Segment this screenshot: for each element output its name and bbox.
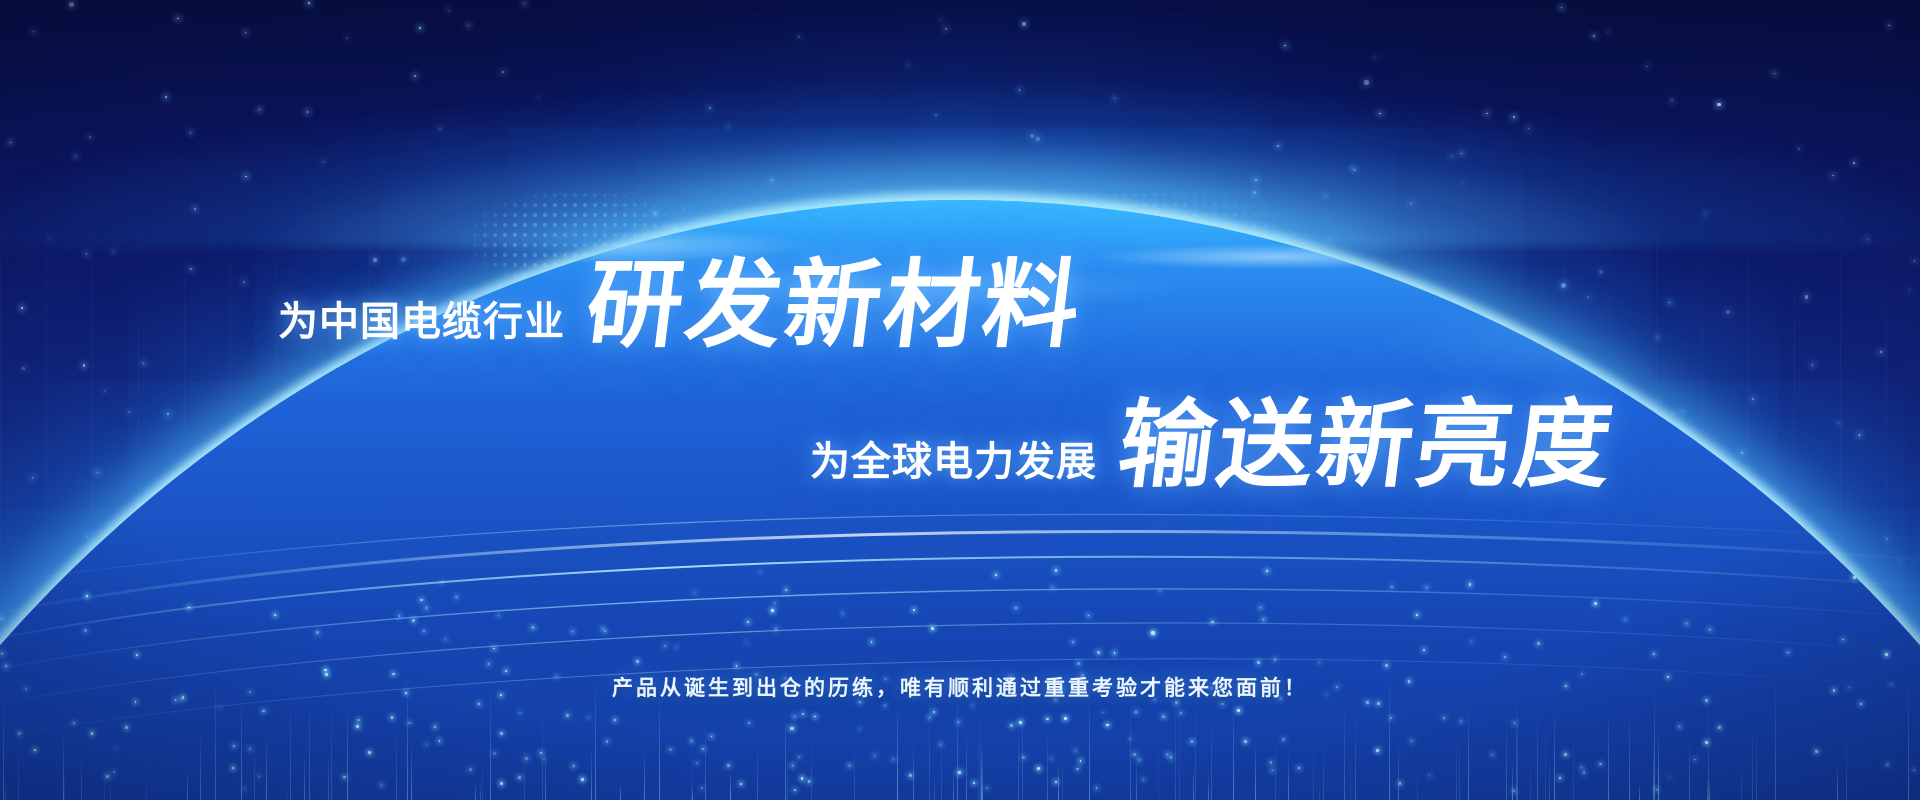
earth-horizon-glow — [0, 28, 1920, 248]
hero-banner: 为中国电缆行业 研发新材料 为全球电力发展 输送新亮度 产品从诞生到出仓的历练，… — [0, 0, 1920, 800]
starfield-particles — [0, 0, 1920, 800]
light-arcs — [0, 470, 1920, 800]
headline-line-1-emphasis: 研发新材料 — [581, 258, 1088, 354]
headline-line-1-prefix: 为中国电缆行业 — [278, 302, 565, 354]
headline-line-2: 为全球电力发展 输送新亮度 — [810, 398, 1614, 494]
banner-tagline: 产品从诞生到出仓的历练，唯有顺利通过重重考验才能来您面前！ — [0, 672, 1920, 702]
city-light-network — [0, 530, 1920, 800]
light-beams — [0, 540, 1920, 800]
headline-block: 为中国电缆行业 研发新材料 为全球电力发展 输送新亮度 产品从诞生到出仓的历练，… — [0, 0, 1920, 800]
headline-line-2-emphasis: 输送新亮度 — [1113, 398, 1620, 494]
dotted-world-map — [430, 120, 1420, 580]
light-columns — [0, 120, 1920, 640]
vignette-overlay — [0, 0, 1920, 800]
headline-line-1: 为中国电缆行业 研发新材料 — [278, 258, 1082, 354]
glowing-earth-horizon — [0, 200, 1920, 800]
headline-line-2-prefix: 为全球电力发展 — [810, 442, 1097, 494]
